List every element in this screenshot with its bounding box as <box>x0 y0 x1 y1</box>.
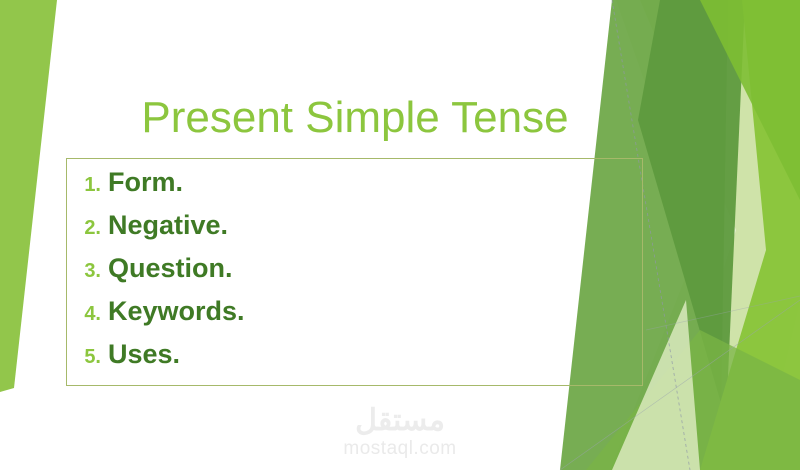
watermark-arabic-logo: مستقل <box>0 404 800 438</box>
slide-title: Present Simple Tense <box>66 92 644 144</box>
left-green-wedge <box>0 0 57 392</box>
content-box: 1. Form. 2. Negative. 3. Question. 4. Ke… <box>66 158 643 386</box>
topic-list: 1. Form. 2. Negative. 3. Question. 4. Ke… <box>75 167 245 382</box>
right-yellow-green-shape <box>700 0 800 200</box>
presentation-slide: Present Simple Tense 1. Form. 2. Negativ… <box>0 0 800 470</box>
list-item-label: Uses. <box>108 339 180 370</box>
list-item: 1. Form. <box>75 167 245 210</box>
list-item: 5. Uses. <box>75 339 245 382</box>
list-item: 2. Negative. <box>75 210 245 253</box>
list-item-number: 2. <box>75 217 101 240</box>
list-item-number: 1. <box>75 174 101 197</box>
watermark-domain: mostaql.com <box>0 438 800 460</box>
list-item-label: Form. <box>108 167 183 198</box>
right-light-green-shape <box>640 0 800 470</box>
list-item-number: 4. <box>75 303 101 326</box>
list-item-label: Negative. <box>108 210 228 241</box>
watermark: مستقل mostaql.com <box>0 404 800 460</box>
list-item-number: 5. <box>75 346 101 369</box>
list-item-label: Keywords. <box>108 296 245 327</box>
list-item: 3. Question. <box>75 253 245 296</box>
right-dark-olive-triangle <box>638 0 745 420</box>
list-item-label: Question. <box>108 253 233 284</box>
diagonal-hairline-3 <box>646 296 800 330</box>
list-item: 4. Keywords. <box>75 296 245 339</box>
list-item-number: 3. <box>75 260 101 283</box>
right-bright-green-shape <box>700 0 800 470</box>
